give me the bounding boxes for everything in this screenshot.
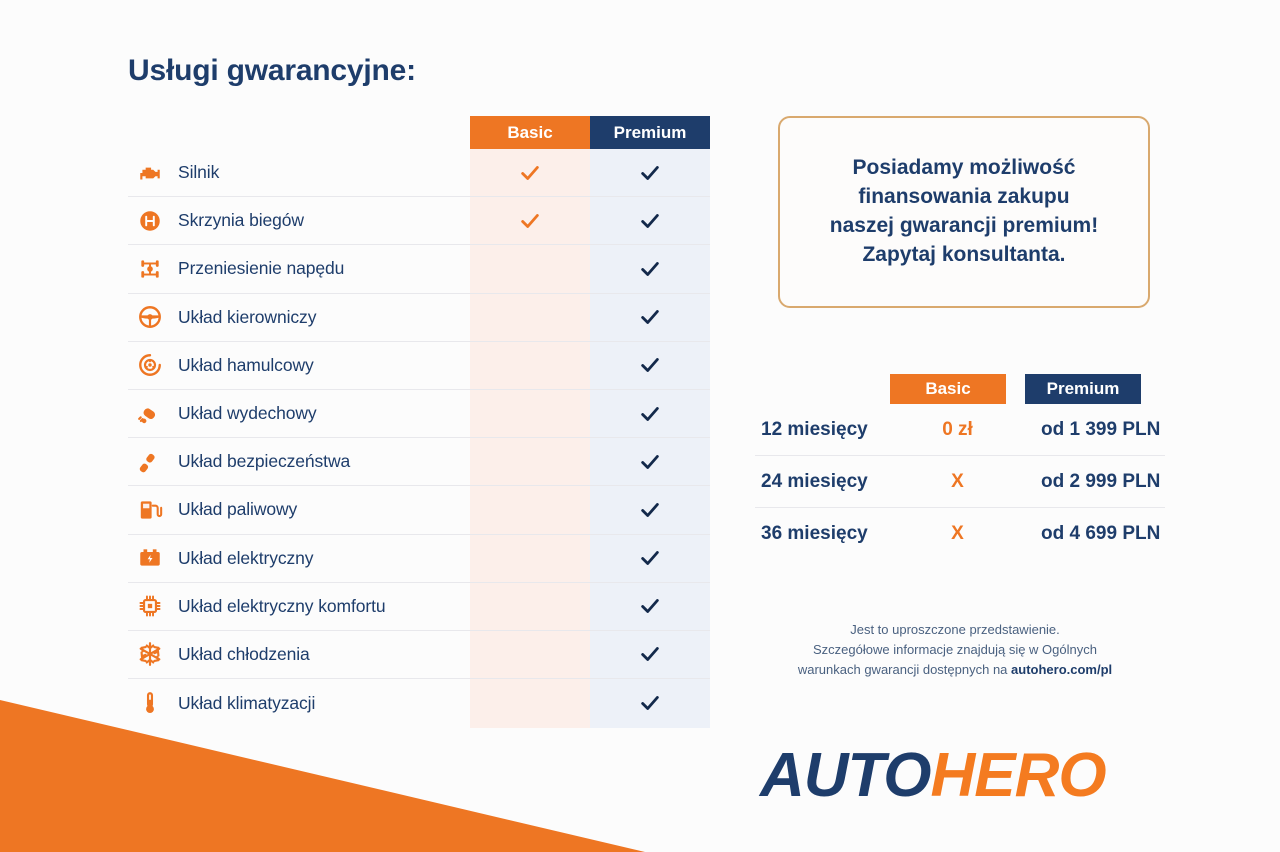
pricing-row: 36 miesięcyXod 4 699 PLN [755,508,1165,560]
page-title: Usługi gwarancyjne: [128,54,718,88]
pricing-badge-premium: Premium [1025,374,1141,404]
fuel-pump-icon [128,497,172,523]
service-premium-cell [590,149,710,196]
service-label: Układ wydechowy [172,403,470,424]
service-row: Skrzynia biegów [128,197,710,245]
service-premium-cell [590,294,710,341]
service-basic-cell [470,631,590,678]
pricing-term: 24 miesięcy [755,471,890,493]
pricing-table: Basic Premium 12 miesięcy0 złod 1 399 PL… [755,374,1165,560]
service-premium-cell [590,245,710,292]
service-label: Układ bezpieczeństwa [172,451,470,472]
logo-auto-text: AUTO [760,741,931,810]
service-premium-cell [590,438,710,485]
gearbox-icon [128,208,172,234]
snowflake-icon [128,641,172,667]
pricing-row: 12 miesięcy0 złod 1 399 PLN [755,404,1165,456]
pricing-badge-basic: Basic [890,374,1006,404]
service-premium-cell [590,390,710,437]
service-row: Układ klimatyzacji [128,679,710,727]
service-premium-cell [590,535,710,582]
brake-disc-icon [128,352,172,378]
chip-icon [128,593,172,619]
promo-line-2: finansowania zakupu [858,185,1069,208]
pricing-premium-value: od 2 999 PLN [1025,471,1165,493]
pricing-basic-value: 0 zł [890,419,1025,441]
service-row: Układ wydechowy [128,390,710,438]
column-header-basic: Basic [470,116,590,149]
service-label: Skrzynia biegów [172,210,470,231]
service-premium-cell [590,631,710,678]
engine-icon [128,160,172,186]
service-basic-cell [470,149,590,196]
service-row: Układ chłodzenia [128,631,710,679]
service-label: Układ elektryczny komfortu [172,596,470,617]
service-basic-cell [470,342,590,389]
promo-line-3: naszej gwarancji premium! [830,214,1098,237]
service-label: Układ elektryczny [172,548,470,569]
service-premium-cell [590,342,710,389]
column-header-basic-label: Basic [507,123,552,143]
service-basic-cell [470,679,590,727]
service-basic-cell [470,535,590,582]
service-basic-cell [470,583,590,630]
disclaimer-line-3-prefix: warunkach gwarancji dostępnych na [798,662,1011,677]
pricing-header-row: Basic Premium [755,374,1165,404]
pricing-rows: 12 miesięcy0 złod 1 399 PLN24 miesięcyXo… [755,404,1165,560]
service-premium-cell [590,197,710,244]
service-list: SilnikSkrzynia biegówPrzeniesienie napęd… [128,149,710,727]
service-premium-cell [590,679,710,727]
pricing-premium-value: od 1 399 PLN [1025,419,1165,441]
service-label: Układ klimatyzacji [172,693,470,714]
service-row: Silnik [128,149,710,197]
exhaust-icon [128,401,172,427]
service-row: Układ kierowniczy [128,294,710,342]
service-label: Układ hamulcowy [172,355,470,376]
service-basic-cell [470,294,590,341]
service-row: Układ hamulcowy [128,342,710,390]
service-row: Układ paliwowy [128,486,710,534]
pricing-row: 24 miesięcyXod 2 999 PLN [755,456,1165,508]
service-premium-cell [590,486,710,533]
service-row: Przeniesienie napędu [128,245,710,293]
pricing-basic-value: X [890,471,1025,493]
column-header-premium: Premium [590,116,710,149]
promo-line-1: Posiadamy możliwość [853,156,1076,179]
warranty-infographic: Basic Premium Usługi gwarancyjne: Silnik… [0,0,1280,852]
service-row: Układ elektryczny komfortu [128,583,710,631]
disclaimer-line-1: Jest to uproszczone przedstawienie. [740,620,1170,640]
pricing-badge-basic-label: Basic [925,379,970,399]
service-row: Układ bezpieczeństwa [128,438,710,486]
financing-promo-text: Posiadamy możliwość finansowania zakupu … [812,154,1116,270]
service-label: Silnik [172,162,470,183]
disclaimer-line-2: Szczegółowe informacje znajdują się w Og… [740,640,1170,660]
disclaimer-website-link[interactable]: autohero.com/pl [1011,662,1112,677]
promo-line-4: Zapytaj konsultanta. [862,243,1065,266]
service-label: Układ paliwowy [172,499,470,520]
pricing-basic-value: X [890,523,1025,545]
pricing-premium-value: od 4 699 PLN [1025,523,1165,545]
disclaimer: Jest to uproszczone przedstawienie. Szcz… [740,620,1170,679]
autohero-logo: AUTOHERO [760,745,1106,807]
column-header-premium-label: Premium [614,123,687,143]
service-label: Przeniesienie napędu [172,258,470,279]
service-basic-cell [470,486,590,533]
service-label: Układ chłodzenia [172,644,470,665]
service-label: Układ kierowniczy [172,307,470,328]
service-basic-cell [470,438,590,485]
service-basic-cell [470,390,590,437]
pricing-badge-premium-label: Premium [1047,379,1120,399]
service-basic-cell [470,245,590,292]
battery-icon [128,545,172,571]
thermometer-icon [128,690,172,716]
service-basic-cell [470,197,590,244]
steering-wheel-icon [128,304,172,330]
financing-promo-box: Posiadamy możliwość finansowania zakupu … [778,116,1150,308]
service-row: Układ elektryczny [128,535,710,583]
seatbelt-icon [128,449,172,475]
logo-hero-text: HERO [931,741,1106,810]
pricing-term: 12 miesięcy [755,419,890,441]
service-premium-cell [590,583,710,630]
left-panel: Usługi gwarancyjne: [128,54,718,112]
pricing-term: 36 miesięcy [755,523,890,545]
disclaimer-line-3: warunkach gwarancji dostępnych na autohe… [740,660,1170,680]
drivetrain-icon [128,256,172,282]
